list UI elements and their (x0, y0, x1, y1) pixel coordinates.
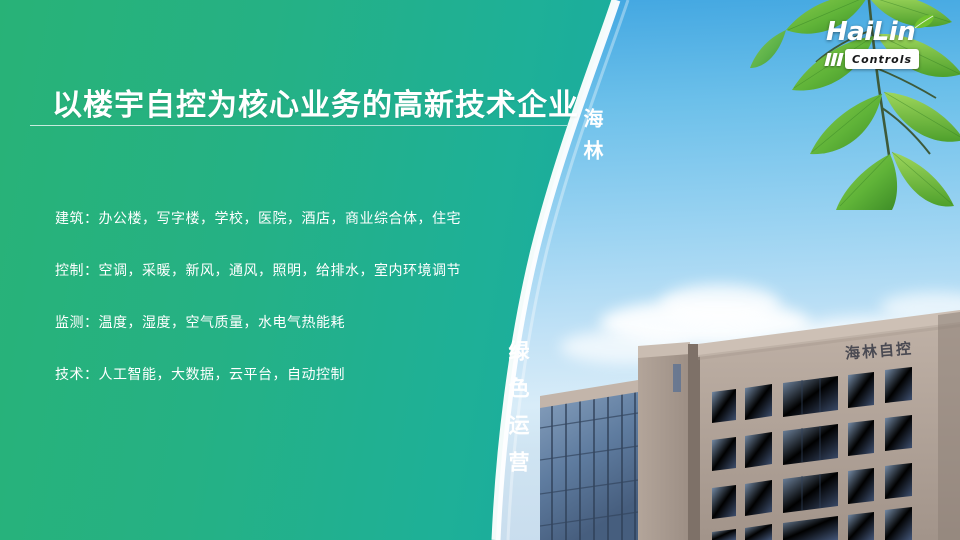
hailin-controls-logo: HaiLin Controls (826, 18, 950, 70)
list-item: 技术：人工智能，大数据，云平台，自动控制 (55, 364, 461, 384)
logo-tagline: Controls (852, 53, 912, 66)
leaf-icon (912, 14, 936, 30)
vertical-text-green-operations: 绿色运营 (503, 340, 533, 488)
office-building-photo (540, 300, 960, 540)
logo-tagline-row: Controls (826, 49, 950, 69)
vertical-text-hailin: 海林 (578, 108, 607, 172)
bullet-list: 建筑：办公楼，写字楼，学校，医院，酒店，商业综合体，住宅 控制：空调，采暖，新风… (55, 208, 461, 384)
bars-icon (826, 53, 842, 66)
title-divider (30, 125, 567, 126)
slide-canvas: 海林自控 (0, 0, 960, 540)
list-item: 控制：空调，采暖，新风，通风，照明，给排水，室内环境调节 (55, 260, 461, 280)
list-item: 建筑：办公楼，写字楼，学校，医院，酒店，商业综合体，住宅 (55, 208, 461, 228)
logo-tagline-box: Controls (845, 49, 919, 69)
list-item: 监测：温度，湿度，空气质量，水电气热能耗 (55, 312, 461, 332)
page-title: 以楼宇自控为核心业务的高新技术企业 (52, 80, 579, 124)
